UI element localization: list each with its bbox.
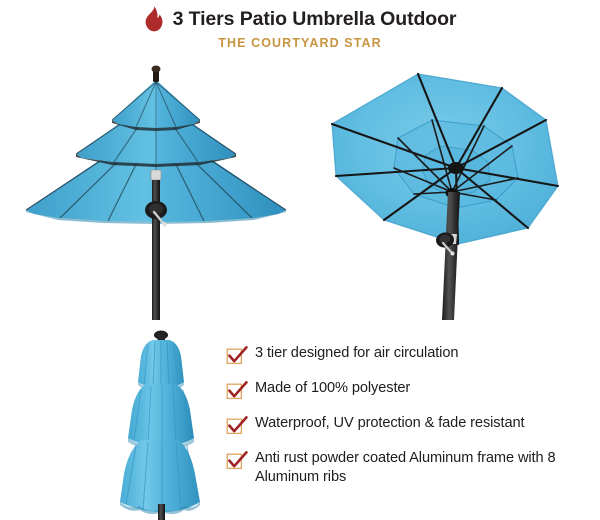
crank-handle-icon	[435, 232, 454, 256]
checkmark-icon	[226, 416, 248, 435]
umbrella-closed-view	[96, 322, 232, 520]
page-title: 3 Tiers Patio Umbrella Outdoor	[173, 6, 457, 32]
crank-handle-icon	[145, 201, 167, 227]
feature-text: 3 tier designed for air circulation	[255, 344, 458, 363]
checkmark-icon	[226, 381, 248, 400]
feature-item-aluminum-frame: Anti rust powder coated Aluminum frame w…	[226, 449, 598, 487]
brand-subtitle: THE COURTYARD STAR	[0, 35, 600, 51]
umbrella-underside-view	[306, 58, 600, 320]
checkmark-icon	[226, 346, 248, 365]
checkmark-icon	[226, 451, 248, 470]
flame-icon	[144, 6, 164, 32]
feature-text: Anti rust powder coated Aluminum frame w…	[255, 449, 598, 487]
feature-text: Waterproof, UV protection & fade resista…	[255, 414, 524, 433]
header: 3 Tiers Patio Umbrella Outdoor THE COURT…	[0, 0, 600, 60]
feature-list: 3 tier designed for air circulation Made…	[226, 344, 598, 487]
header-title-row: 3 Tiers Patio Umbrella Outdoor	[0, 6, 600, 32]
umbrella-open-side-view	[4, 58, 304, 320]
feature-text: Made of 100% polyester	[255, 379, 410, 398]
feature-item-waterproof-uv: Waterproof, UV protection & fade resista…	[226, 414, 598, 435]
feature-item-polyester: Made of 100% polyester	[226, 379, 598, 400]
feature-item-air-circulation: 3 tier designed for air circulation	[226, 344, 598, 365]
product-infographic: 3 Tiers Patio Umbrella Outdoor THE COURT…	[0, 0, 600, 520]
